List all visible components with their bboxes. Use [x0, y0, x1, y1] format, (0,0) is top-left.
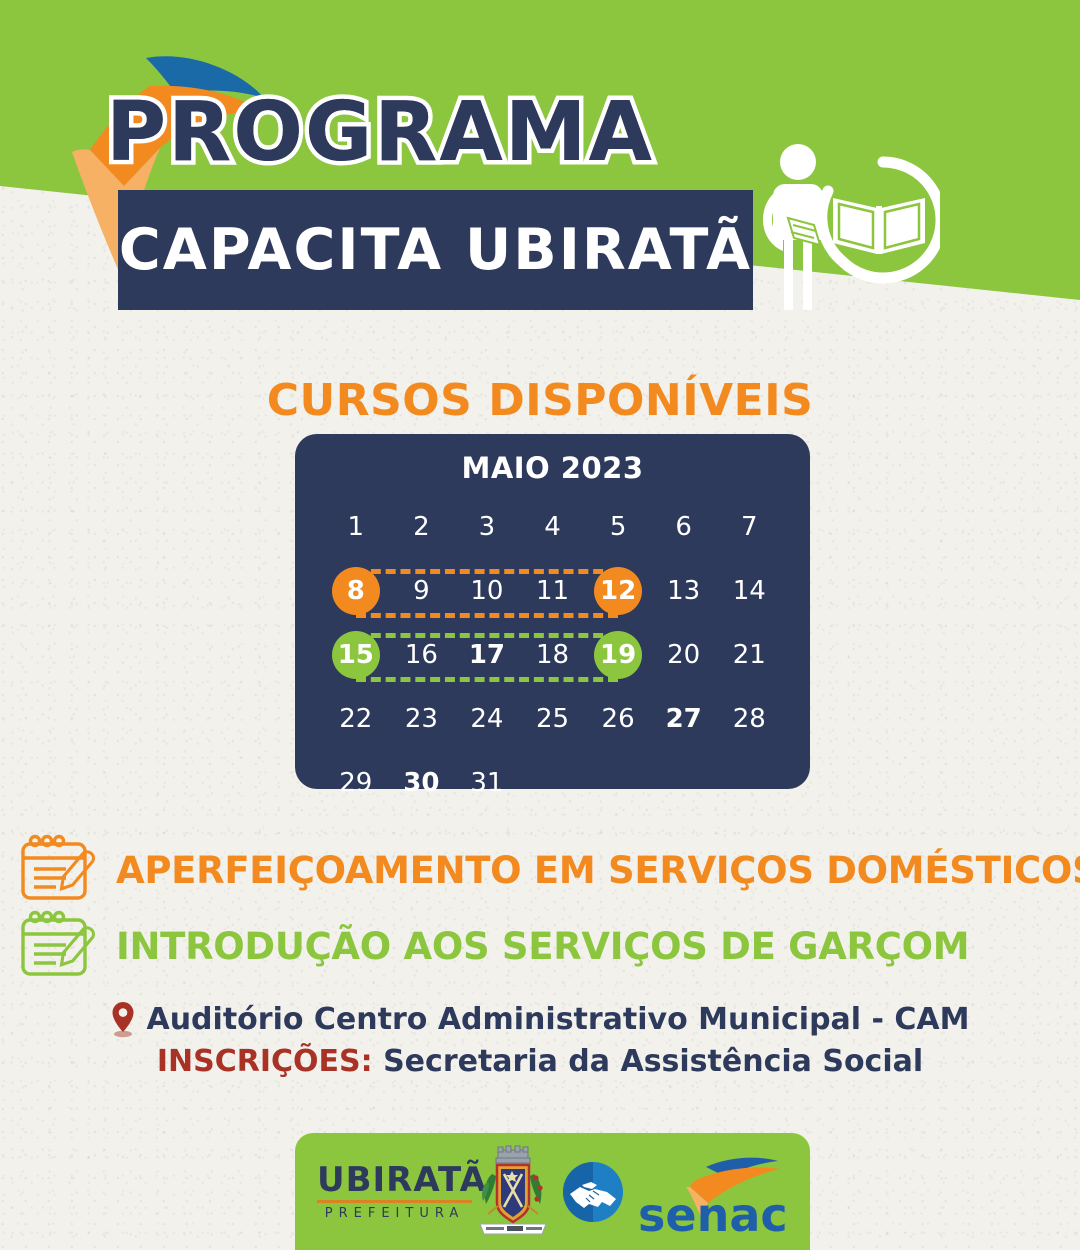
calendar-day-29[interactable]: 29	[323, 751, 389, 815]
calendar-day-number: 31	[470, 768, 503, 798]
ubirata-city-logo: UBIRATÃ PREFEITURA	[317, 1163, 472, 1221]
calendar-day-23[interactable]: 23	[389, 687, 455, 751]
notepad-pencil-icon	[18, 832, 108, 908]
calendar-day-number: 8	[347, 576, 365, 606]
ubirata-logo-subtitle: PREFEITURA	[317, 1206, 472, 1221]
subtitle-banner: CAPACITA UBIRATÃ	[118, 190, 753, 310]
calendar-day-31[interactable]: 31	[454, 751, 520, 815]
calendar-day-12[interactable]: 12	[585, 559, 651, 623]
ubirata-logo-name: UBIRATÃ	[317, 1163, 472, 1197]
calendar-day-number: 18	[536, 640, 569, 670]
calendar-day-26[interactable]: 26	[585, 687, 651, 751]
calendar-card: MAIO 2023 123456789101112131415161718192…	[295, 434, 810, 789]
calendar-day-number: 22	[339, 704, 372, 734]
section-heading: CURSOS DISPONÍVEIS	[0, 375, 1080, 426]
calendar-day-number: 29	[339, 768, 372, 798]
calendar-grid: 1234567891011121314151617181920212223242…	[323, 495, 782, 815]
notepad-pencil-icon	[18, 908, 108, 984]
calendar-day-number: 3	[479, 512, 496, 542]
calendar-day-number: 4	[544, 512, 561, 542]
course-item-1: APERFEIÇOAMENTO EM SERVIÇOS DOMÉSTICOS	[18, 832, 1080, 908]
ubirata-logo-rule	[317, 1200, 472, 1203]
registration-label: INSCRIÇÕES:	[157, 1044, 373, 1079]
page-title: PROGRAMA	[0, 85, 760, 180]
calendar-day-22[interactable]: 22	[323, 687, 389, 751]
senac-wordmark: senac	[638, 1188, 788, 1237]
calendar-day-21[interactable]: 21	[716, 623, 782, 687]
student-with-backpack-and-book-icon	[755, 140, 940, 315]
calendar-day-number: 19	[600, 640, 636, 670]
calendar-week-row: 293031	[323, 751, 782, 815]
calendar-day-19[interactable]: 19	[585, 623, 651, 687]
calendar-day-17[interactable]: 17	[454, 623, 520, 687]
calendar-day-3[interactable]: 3	[454, 495, 520, 559]
calendar-day-number: 30	[403, 768, 439, 798]
course-label-2: INTRODUÇÃO AOS SERVIÇOS DE GARÇOM	[116, 925, 969, 968]
calendar-day-number: 7	[741, 512, 758, 542]
location-block: Auditório Centro Administrativo Municipa…	[0, 1000, 1080, 1079]
calendar-day-number: 5	[610, 512, 627, 542]
calendar-day-empty	[651, 751, 717, 815]
calendar-day-1[interactable]: 1	[323, 495, 389, 559]
calendar-day-number: 9	[413, 576, 430, 606]
calendar-day-15[interactable]: 15	[323, 623, 389, 687]
calendar-day-number: 26	[602, 704, 635, 734]
calendar-day-empty	[585, 751, 651, 815]
calendar-day-number: 14	[733, 576, 766, 606]
calendar-day-number: 24	[470, 704, 503, 734]
calendar-day-number: 25	[536, 704, 569, 734]
calendar-month-label: MAIO 2023	[295, 434, 810, 485]
calendar-day-9[interactable]: 9	[389, 559, 455, 623]
calendar-day-8[interactable]: 8	[323, 559, 389, 623]
calendar-week-row: 891011121314	[323, 559, 782, 623]
poster-canvas: PROGRAMA PROGRAMA CAPACITA UBIRATÃ	[0, 0, 1080, 1250]
senac-handshake-icon	[562, 1161, 624, 1223]
registration-line: INSCRIÇÕES: Secretaria da Assistência So…	[0, 1044, 1080, 1079]
calendar-day-number: 2	[413, 512, 430, 542]
calendar-day-10[interactable]: 10	[454, 559, 520, 623]
senac-swoosh-icon: senac	[628, 1147, 796, 1237]
calendar-day-13[interactable]: 13	[651, 559, 717, 623]
map-pin-icon	[110, 1000, 136, 1038]
calendar-day-16[interactable]: 16	[389, 623, 455, 687]
calendar-week-row: 22232425262728	[323, 687, 782, 751]
calendar-day-empty	[716, 751, 782, 815]
senac-logo: senac	[628, 1147, 796, 1237]
calendar-day-number: 28	[733, 704, 766, 734]
venue-text: Auditório Centro Administrativo Municipa…	[146, 1002, 969, 1037]
calendar-day-number: 17	[469, 640, 505, 670]
calendar-day-number: 23	[405, 704, 438, 734]
calendar-day-number: 6	[675, 512, 692, 542]
course-label-1: APERFEIÇOAMENTO EM SERVIÇOS DOMÉSTICOS	[116, 849, 1080, 892]
calendar-day-number: 20	[667, 640, 700, 670]
footer-logo-bar: UBIRATÃ PREFEITURA	[295, 1133, 810, 1250]
calendar-day-2[interactable]: 2	[389, 495, 455, 559]
course-item-2: INTRODUÇÃO AOS SERVIÇOS DE GARÇOM	[18, 908, 969, 984]
venue-line: Auditório Centro Administrativo Municipa…	[0, 1000, 1080, 1038]
calendar-day-4[interactable]: 4	[520, 495, 586, 559]
subtitle-text: CAPACITA UBIRATÃ	[119, 217, 752, 283]
calendar-day-20[interactable]: 20	[651, 623, 717, 687]
calendar-day-empty	[520, 751, 586, 815]
calendar-day-24[interactable]: 24	[454, 687, 520, 751]
calendar-day-11[interactable]: 11	[520, 559, 586, 623]
calendar-week-row: 1234567	[323, 495, 782, 559]
calendar-day-6[interactable]: 6	[651, 495, 717, 559]
calendar-day-number: 11	[536, 576, 569, 606]
calendar-day-27[interactable]: 27	[651, 687, 717, 751]
calendar-day-7[interactable]: 7	[716, 495, 782, 559]
registration-place: Secretaria da Assistência Social	[383, 1044, 923, 1079]
calendar-day-28[interactable]: 28	[716, 687, 782, 751]
calendar-day-number: 16	[405, 640, 438, 670]
calendar-day-number: 10	[470, 576, 503, 606]
calendar-day-number: 12	[600, 576, 636, 606]
calendar-day-number: 21	[733, 640, 766, 670]
calendar-week-row: 15161718192021	[323, 623, 782, 687]
calendar-day-30[interactable]: 30	[389, 751, 455, 815]
ubirata-coat-of-arms-icon	[474, 1144, 552, 1239]
calendar-day-18[interactable]: 18	[520, 623, 586, 687]
calendar-day-number: 1	[348, 512, 365, 542]
calendar-day-5[interactable]: 5	[585, 495, 651, 559]
calendar-day-number: 27	[666, 704, 702, 734]
calendar-day-14[interactable]: 14	[716, 559, 782, 623]
calendar-day-number: 15	[338, 640, 374, 670]
calendar-day-25[interactable]: 25	[520, 687, 586, 751]
calendar-day-number: 13	[667, 576, 700, 606]
